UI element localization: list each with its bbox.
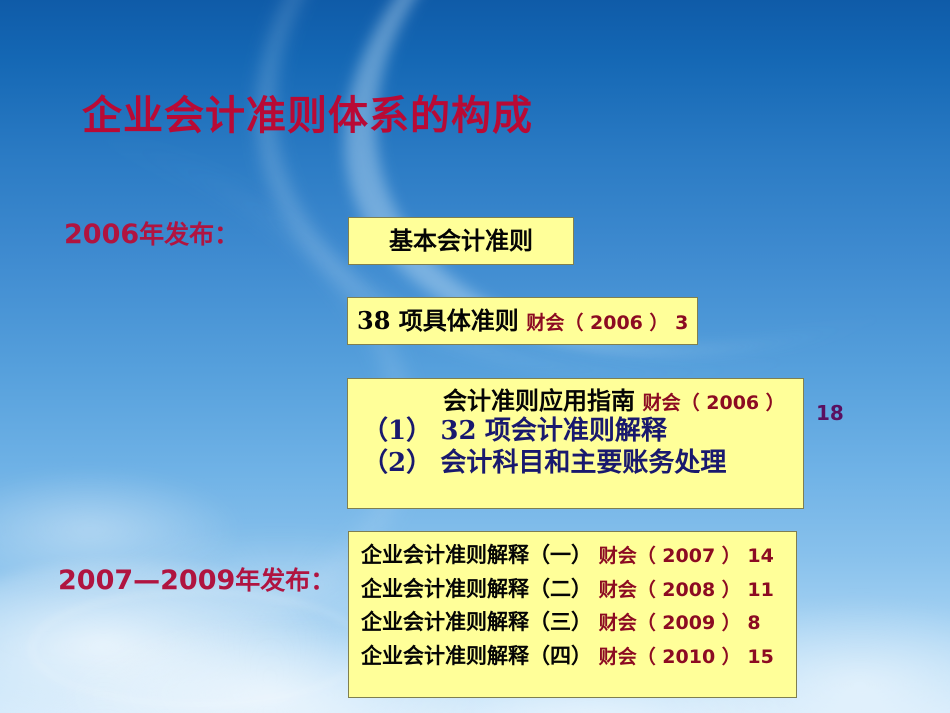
box-interpretations: 企业会计准则解释（一） 财会（ 2007 ） 14 企业会计准则解释（二） 财会… [348, 531, 797, 698]
year-label-2007-2009-suffix: 年发布： [235, 566, 335, 595]
year-label-2006: 2006年发布： [64, 221, 239, 248]
box-application-guide: 会计准则应用指南 财会（ 2006 ） （1） 32 项会计准则解释 （2） 会… [347, 378, 804, 509]
cloud-ring-decoration [30, 590, 366, 706]
interpretation-row-text: 企业会计准则解释（一） [361, 542, 592, 567]
application-guide-item-2-marker: （2） [362, 448, 432, 478]
slide-canvas: 企业会计准则体系的构成 2006年发布： 2007—2009年发布： 基本会计准… [0, 0, 950, 713]
year-label-2007-2009-number: 2007—2009 [58, 565, 235, 596]
interpretation-row: 企业会计准则解释（一） 财会（ 2007 ） 14 [349, 542, 796, 569]
interpretation-row-text: 企业会计准则解释（二） [361, 576, 592, 601]
application-guide-item-2-text: 会计科目和主要账务处理 [440, 448, 726, 478]
basic-standard-text: 基本会计准则 [349, 226, 573, 255]
year-label-2006-number: 2006 [64, 219, 139, 250]
application-guide-item-1-text: 项会计准则解释 [485, 416, 667, 446]
application-guide-item-1-marker: （1） [362, 416, 432, 446]
interpretation-row: 企业会计准则解释（二） 财会（ 2008 ） 11 [349, 576, 796, 603]
specific-standards-text: 38 项具体准则 [357, 306, 519, 335]
interpretation-row-reference: 财会（ 2009 ） 8 [599, 612, 761, 634]
interpretation-row-text: 企业会计准则解释（三） [361, 609, 592, 634]
specific-standards-reference: 财会（ 2006 ） 3 [526, 312, 688, 334]
interpretation-row-reference: 财会（ 2008 ） 11 [599, 579, 774, 601]
application-guide-heading-reference: 财会（ 2006 ） [643, 392, 785, 414]
interpretation-row-text: 企业会计准则解释（四） [361, 643, 592, 668]
interpretation-row: 企业会计准则解释（三） 财会（ 2009 ） 8 [349, 609, 796, 636]
box-specific-standards: 38 项具体准则 财会（ 2006 ） 3 [347, 297, 698, 345]
interpretation-row: 企业会计准则解释（四） 财会（ 2010 ） 15 [349, 643, 796, 670]
page-title: 企业会计准则体系的构成 [82, 96, 533, 136]
year-label-2006-suffix: 年发布： [139, 220, 239, 249]
box-basic-standard: 基本会计准则 [348, 217, 574, 265]
guide-doc-number: 18 [816, 403, 844, 423]
application-guide-heading: 会计准则应用指南 [443, 386, 635, 415]
interpretation-row-reference: 财会（ 2010 ） 15 [599, 646, 774, 668]
application-guide-item-1-number: 32 [440, 416, 476, 446]
year-label-2007-2009: 2007—2009年发布： [58, 567, 335, 594]
interpretation-row-reference: 财会（ 2007 ） 14 [599, 545, 774, 567]
